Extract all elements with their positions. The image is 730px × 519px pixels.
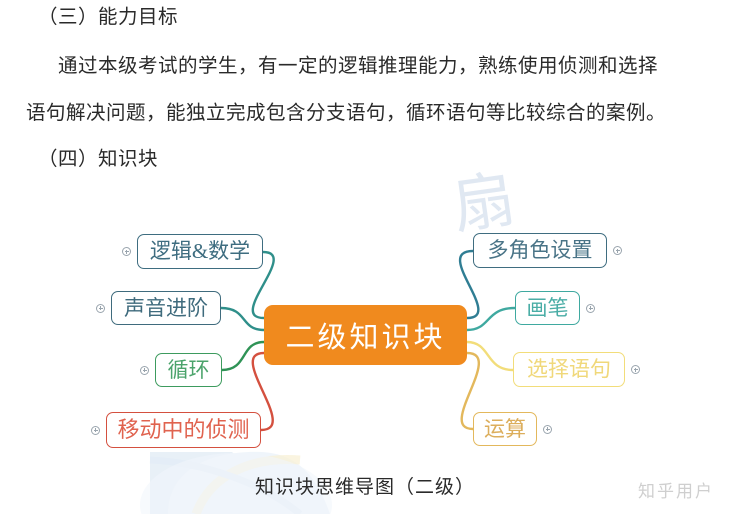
heading-knowledge-blocks: （四）知识块 bbox=[38, 150, 158, 170]
center-node-label: 二级知识块 bbox=[285, 314, 445, 356]
plus-circle-icon[interactable] bbox=[140, 366, 149, 375]
connector-selection-stmt bbox=[467, 342, 513, 370]
mindmap-node-运算[interactable]: 运算 bbox=[473, 412, 537, 446]
mindmap-node-label: 画笔 bbox=[527, 298, 569, 319]
mindmap-node-label: 移动中的侦测 bbox=[117, 419, 249, 441]
mindmap-node-循环[interactable]: 循环 bbox=[155, 353, 222, 387]
mindmap-node-label: 声音进阶 bbox=[124, 298, 208, 319]
plus-circle-icon[interactable] bbox=[586, 304, 595, 313]
paragraph-line-1: 通过本级考试的学生，有一定的逻辑推理能力，熟练使用侦测和选择 bbox=[58, 57, 658, 77]
plus-circle-icon[interactable] bbox=[91, 426, 100, 435]
connector-pen bbox=[467, 308, 515, 330]
mindmap-node-移动中的侦测[interactable]: 移动中的侦测 bbox=[106, 412, 261, 448]
mindmap-node-多角色设置[interactable]: 多角色设置 bbox=[473, 233, 607, 268]
mindmap-node-声音进阶[interactable]: 声音进阶 bbox=[111, 291, 221, 325]
paragraph-line-2: 语句解决问题，能独立完成包含分支语句，循环语句等比较综合的案例。 bbox=[26, 104, 666, 124]
mindmap-node-label: 逻辑&数学 bbox=[150, 241, 250, 262]
mindmap-node-画笔[interactable]: 画笔 bbox=[515, 291, 580, 325]
mindmap-node-逻辑数学[interactable]: 逻辑&数学 bbox=[137, 234, 263, 269]
mindmap-node-label: 循环 bbox=[168, 360, 210, 381]
plus-circle-icon[interactable] bbox=[122, 247, 131, 256]
mindmap-node-label: 多角色设置 bbox=[488, 240, 593, 261]
connector-loop bbox=[222, 342, 264, 370]
connector-sound bbox=[221, 308, 264, 330]
mindmap-node-label: 选择语句 bbox=[527, 359, 611, 380]
mindmap-node-选择语句[interactable]: 选择语句 bbox=[513, 352, 625, 387]
figure-caption: 知识块思维导图（二级） bbox=[0, 472, 730, 499]
plus-circle-icon[interactable] bbox=[543, 425, 552, 434]
heading-ability-goals: （三）能力目标 bbox=[38, 8, 178, 28]
plus-circle-icon[interactable] bbox=[96, 304, 105, 313]
plus-circle-icon[interactable] bbox=[631, 365, 640, 374]
mindmap-node-label: 运算 bbox=[484, 419, 526, 440]
center-node[interactable]: 二级知识块 bbox=[264, 305, 467, 365]
mindmap: 二级知识块 逻辑&数学声音进阶循环移动中的侦测多角色设置画笔选择语句运算 bbox=[0, 190, 730, 480]
plus-circle-icon[interactable] bbox=[613, 246, 622, 255]
